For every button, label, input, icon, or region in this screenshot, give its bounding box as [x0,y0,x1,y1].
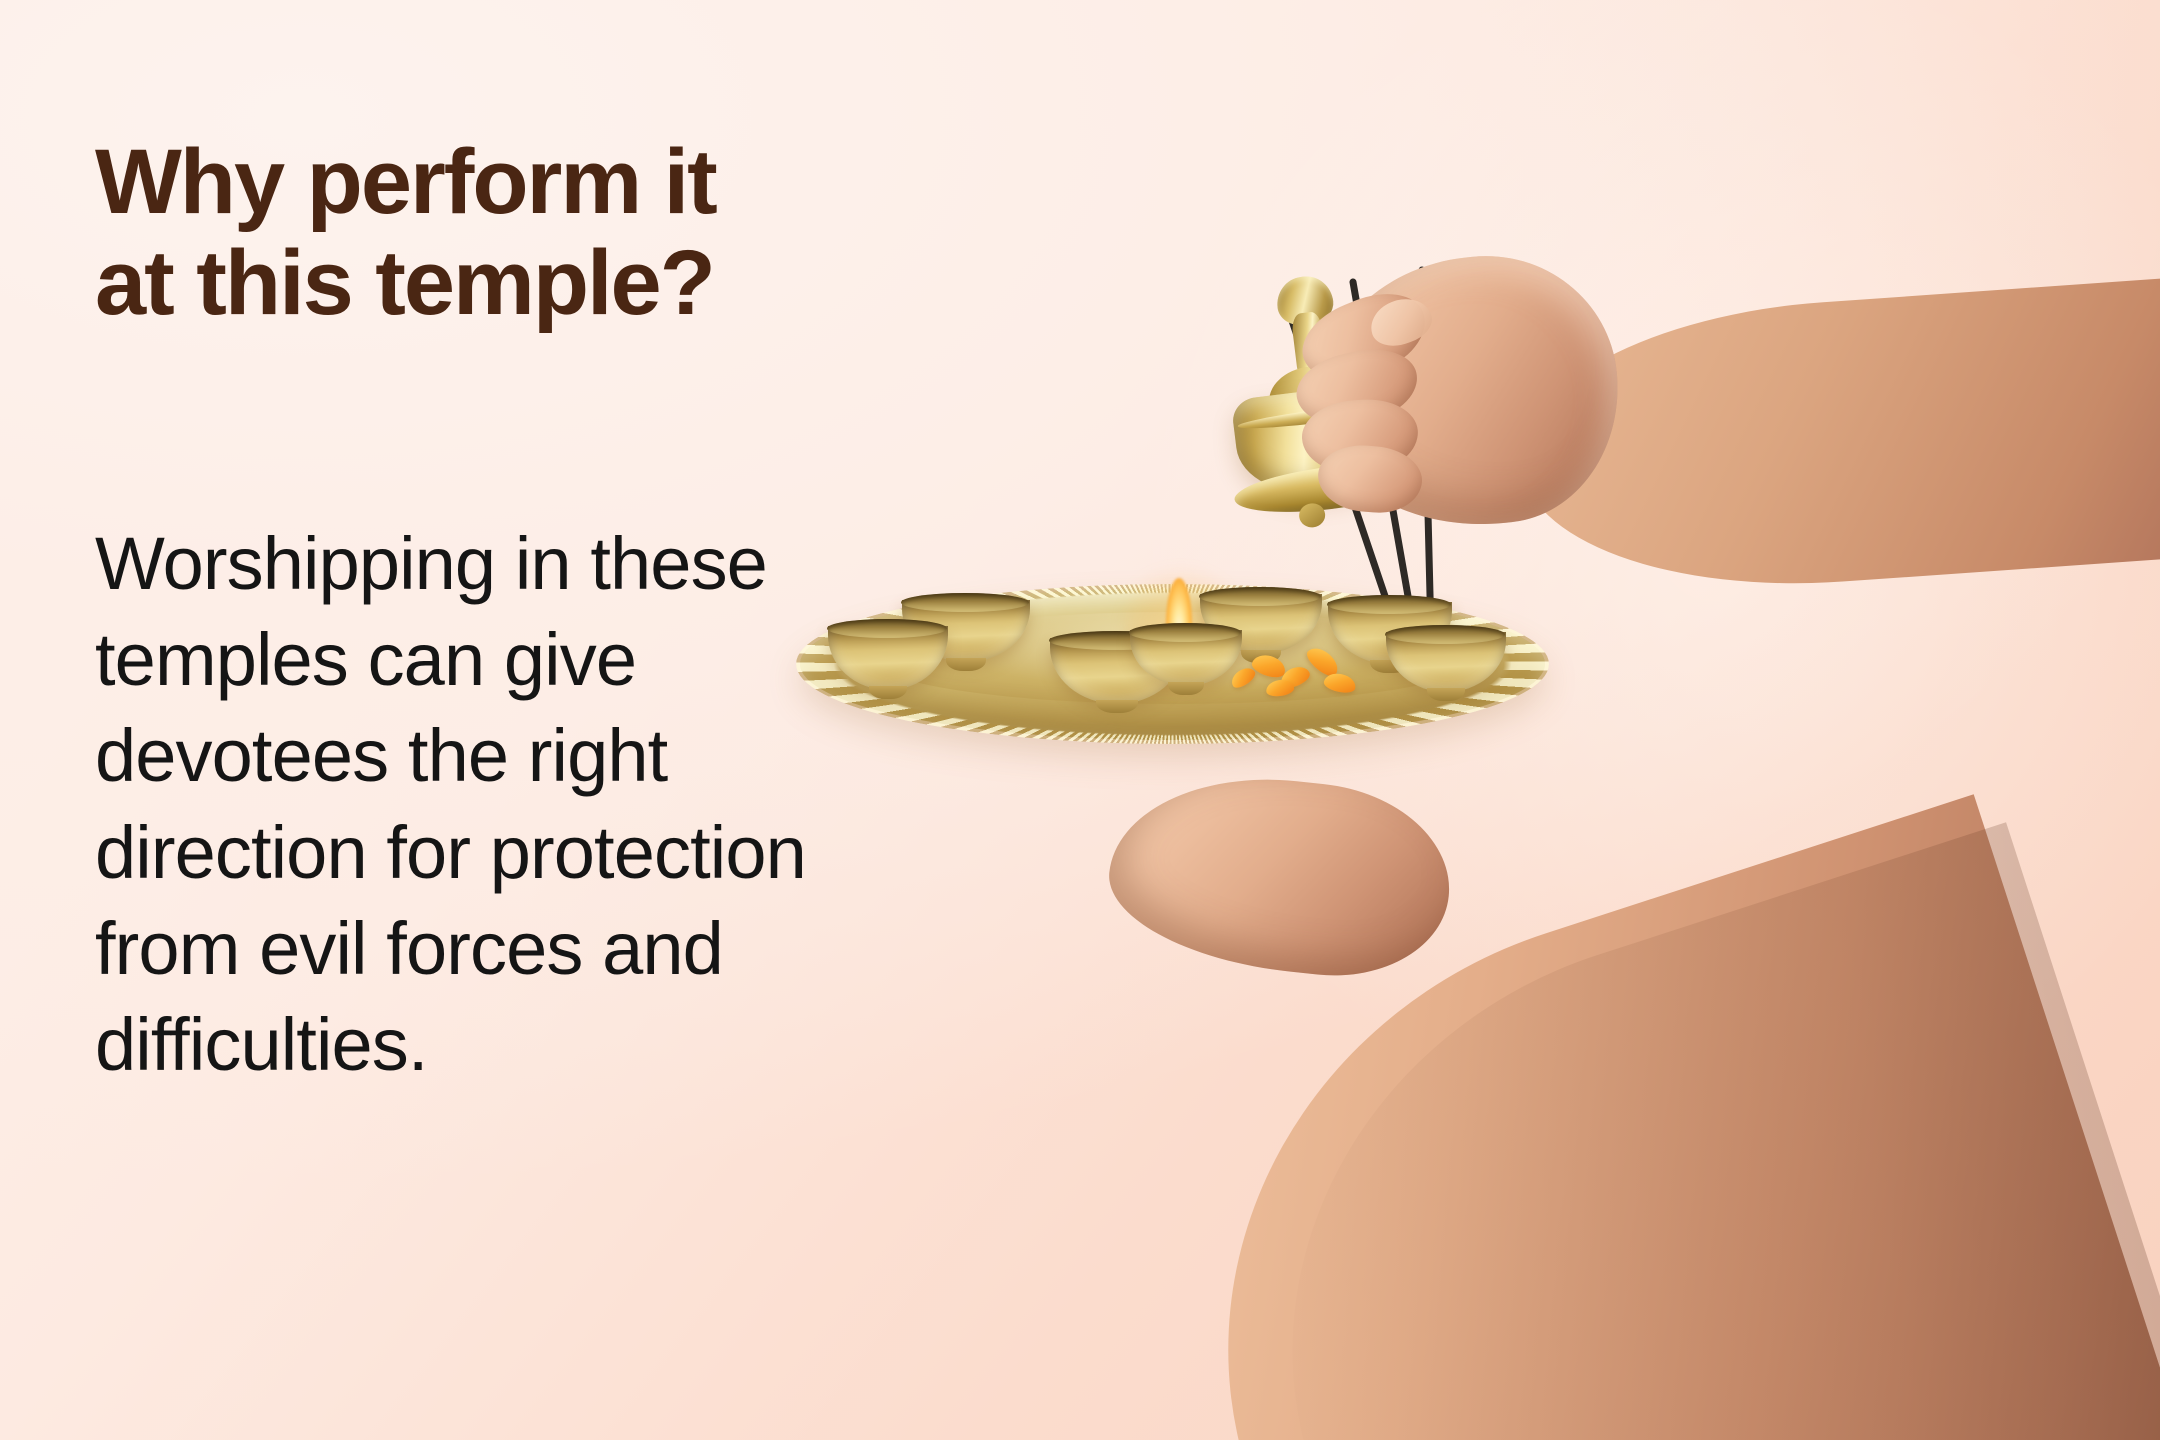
text-column: Why perform it at this temple? [95,132,975,334]
slide-canvas: Why perform it at this temple? Worshippi… [0,0,2160,1440]
page-title: Why perform it at this temple? [95,132,975,334]
brass-thali [800,560,1560,780]
puja-photo [1050,0,2160,1440]
